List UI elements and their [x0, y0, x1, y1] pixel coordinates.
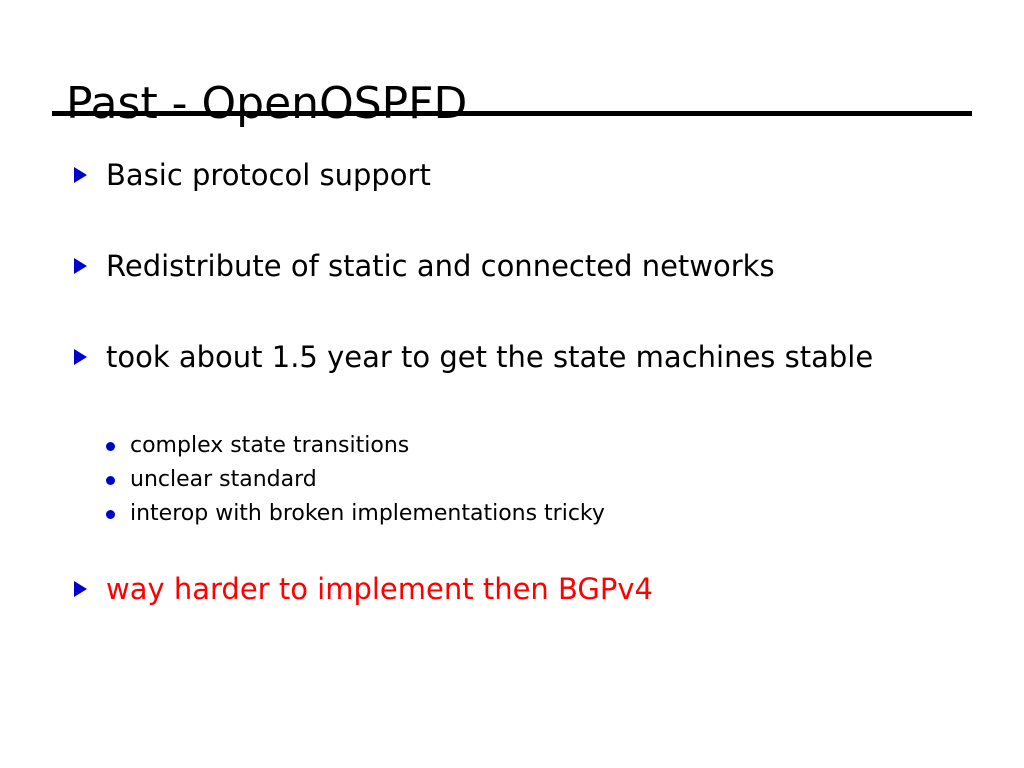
- triangle-right-icon: [74, 167, 87, 183]
- list-item-label: way harder to implement then BGPv4: [106, 569, 974, 609]
- triangle-right-icon: [74, 349, 87, 365]
- list-item-highlight: way harder to implement then BGPv4: [74, 569, 974, 609]
- triangle-right-icon: [74, 581, 87, 597]
- dot-icon: [106, 442, 115, 451]
- list-item: unclear standard: [104, 463, 984, 497]
- presentation-slide: Past - OpenOSPFD Basic protocol support …: [0, 0, 1024, 768]
- list-item-label: Redistribute of static and connected net…: [106, 246, 974, 286]
- list-item: complex state transitions: [104, 429, 984, 463]
- dot-icon: [106, 476, 115, 485]
- list-item: Redistribute of static and connected net…: [74, 246, 974, 286]
- list-item-label: took about 1.5 year to get the state mac…: [106, 337, 974, 377]
- list-item-label: unclear standard: [130, 467, 317, 492]
- list-item-label: interop with broken implementations tric…: [130, 501, 605, 526]
- list-item: Basic protocol support: [74, 155, 974, 195]
- list-item: took about 1.5 year to get the state mac…: [74, 337, 974, 377]
- list-item-label: Basic protocol support: [106, 155, 974, 195]
- list-item-label: complex state transitions: [130, 433, 409, 458]
- title-divider: [52, 111, 972, 116]
- page-title: Past - OpenOSPFD: [66, 77, 467, 131]
- list-item: interop with broken implementations tric…: [104, 497, 984, 531]
- dot-icon: [106, 510, 115, 519]
- triangle-right-icon: [74, 258, 87, 274]
